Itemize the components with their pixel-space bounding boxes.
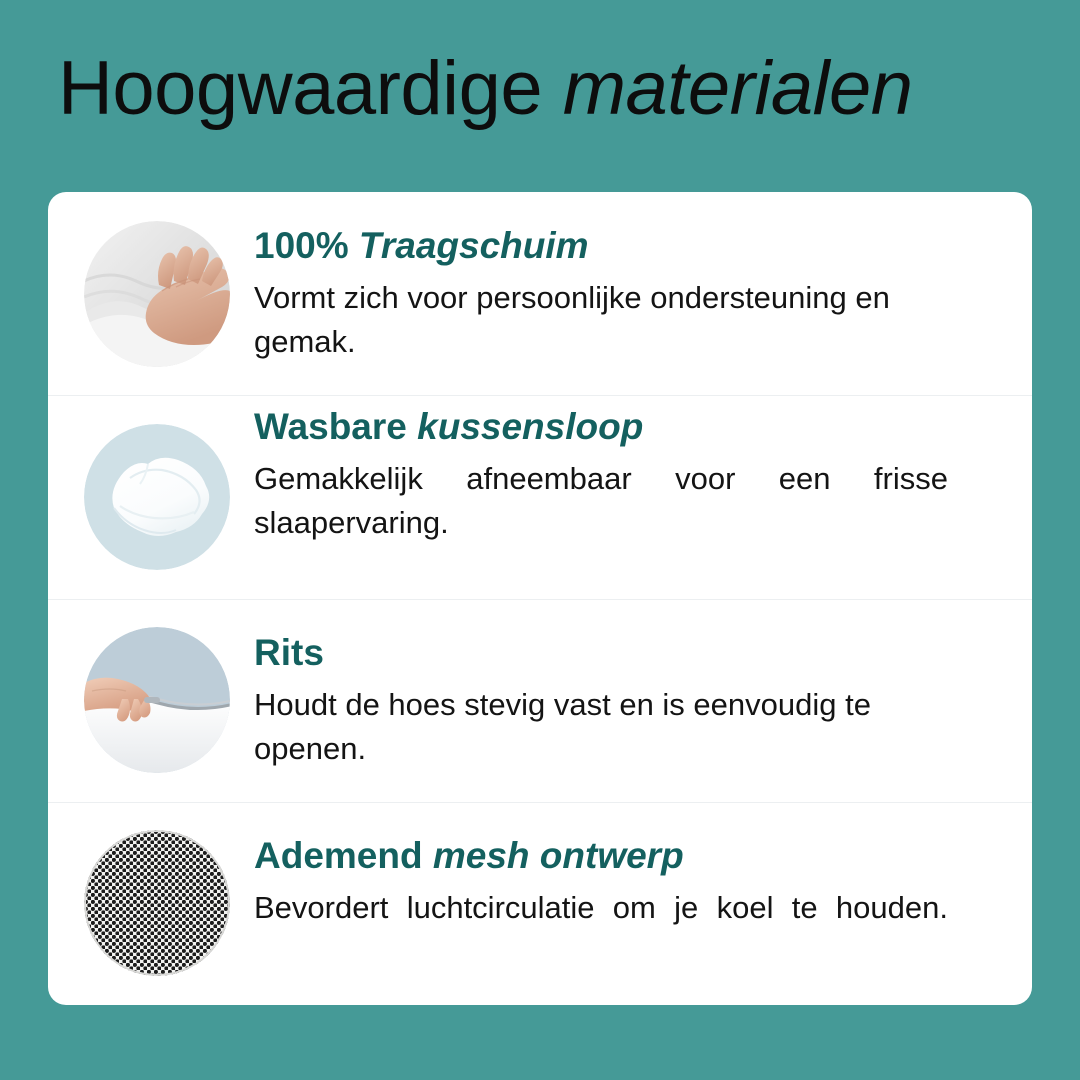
- page-title-regular: Hoogwaardige: [58, 46, 563, 131]
- breathable-mesh-icon: [84, 830, 230, 976]
- washable-pillowcase-icon: [84, 424, 230, 570]
- feature-text-memory-foam: 100% Traagschuim Vormt zich voor persoon…: [254, 223, 1008, 364]
- memory-foam-hand-icon: [84, 221, 230, 367]
- feature-heading-washable-pillowcase: Wasbare kussensloop: [254, 404, 948, 450]
- feature-row-washable-pillowcase: Wasbare kussensloop Gemakkelijk afneemba…: [48, 395, 1032, 598]
- feature-row-zipper: Rits Houdt de hoes stevig vast en is een…: [48, 599, 1032, 802]
- feature-heading-regular: Ademend: [254, 835, 433, 876]
- feature-text-zipper: Rits Houdt de hoes stevig vast en is een…: [254, 630, 1008, 771]
- feature-heading-regular: Wasbare: [254, 406, 417, 447]
- feature-heading-regular: Rits: [254, 632, 324, 673]
- feature-heading-regular: 100%: [254, 225, 359, 266]
- feature-row-breathable-mesh: Ademend mesh ontwerp Bevordert luchtcirc…: [48, 802, 1032, 1005]
- feature-heading-italic: kussensloop: [417, 406, 643, 447]
- feature-text-breathable-mesh: Ademend mesh ontwerp Bevordert luchtcirc…: [254, 833, 1008, 974]
- feature-heading-italic: mesh ontwerp: [433, 835, 684, 876]
- feature-description-zipper: Houdt de hoes stevig vast en is eenvoudi…: [254, 683, 948, 771]
- feature-description-breathable-mesh: Bevordert luchtcirculatie om je koel te …: [254, 886, 948, 974]
- feature-text-washable-pillowcase: Wasbare kussensloop Gemakkelijk afneemba…: [254, 404, 1008, 589]
- features-card: 100% Traagschuim Vormt zich voor persoon…: [48, 192, 1032, 1005]
- zipper-hand-icon: [84, 627, 230, 773]
- feature-description-memory-foam: Vormt zich voor persoonlijke ondersteuni…: [254, 276, 948, 364]
- feature-row-memory-foam: 100% Traagschuim Vormt zich voor persoon…: [48, 192, 1032, 395]
- page-title: Hoogwaardige materialen: [58, 47, 1038, 131]
- feature-heading-breathable-mesh: Ademend mesh ontwerp: [254, 833, 948, 879]
- feature-heading-zipper: Rits: [254, 630, 948, 676]
- feature-heading-memory-foam: 100% Traagschuim: [254, 223, 948, 269]
- feature-description-washable-pillowcase: Gemakkelijk afneembaar voor een frisse s…: [254, 457, 948, 589]
- page-title-italic: materialen: [563, 46, 913, 131]
- feature-heading-italic: Traagschuim: [359, 225, 589, 266]
